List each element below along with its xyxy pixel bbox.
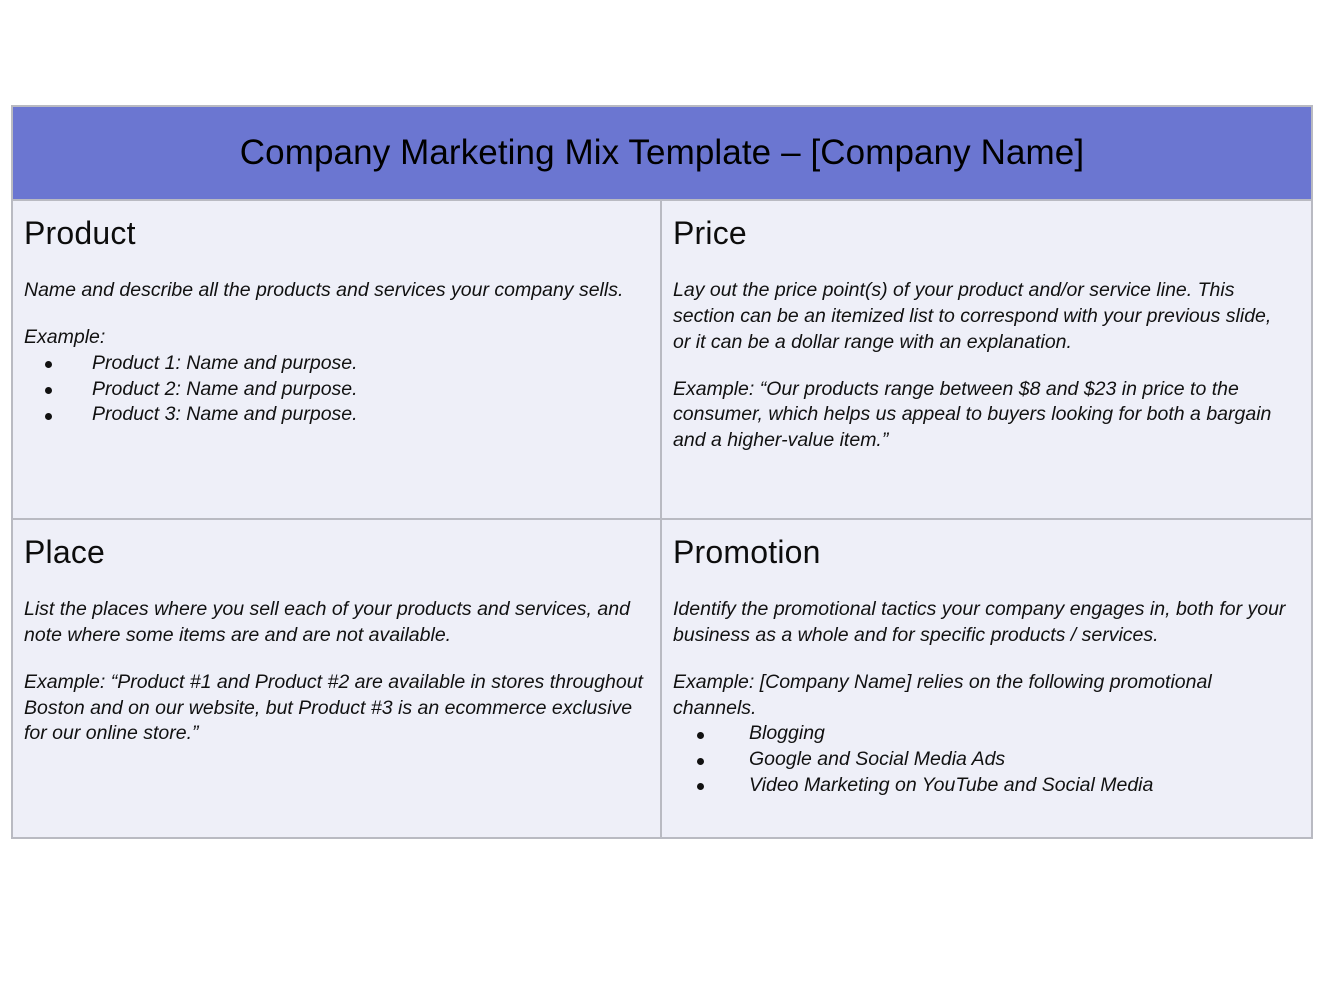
quadrant-promotion-example-label: Example: [Company Name] relies on the fo… — [673, 670, 1289, 722]
matrix-row-top: Product Name and describe all the produc… — [13, 201, 1311, 520]
quadrant-price-example: Example: “Our products range between $8 … — [673, 377, 1289, 455]
quadrant-price-heading: Price — [673, 215, 1289, 252]
list-item-label: Google and Social Media Ads — [749, 748, 1005, 770]
slide-header-band: Company Marketing Mix Template – [Compan… — [13, 107, 1311, 201]
list-item: Video Marketing on YouTube and Social Me… — [673, 773, 1289, 799]
list-item: Google and Social Media Ads — [673, 747, 1289, 773]
matrix-row-bottom: Place List the places where you sell eac… — [13, 520, 1311, 837]
quadrant-place-example: Example: “Product #1 and Product #2 are … — [24, 670, 644, 748]
quadrant-place-description: List the places where you sell each of y… — [24, 597, 644, 649]
quadrant-product-description: Name and describe all the products and s… — [24, 278, 644, 304]
list-item: Product 2: Name and purpose. — [24, 377, 644, 403]
quadrant-product-heading: Product — [24, 215, 644, 252]
bullet-dot-icon — [45, 413, 52, 420]
quadrant-price[interactable]: Price Lay out the price point(s) of your… — [662, 201, 1311, 518]
marketing-mix-slide: Company Marketing Mix Template – [Compan… — [0, 0, 1330, 1000]
bullet-dot-icon — [697, 783, 704, 790]
quadrant-place-body: List the places where you sell each of y… — [24, 597, 644, 748]
quadrant-promotion-heading: Promotion — [673, 534, 1289, 571]
quadrant-promotion-body: Identify the promotional tactics your co… — [673, 597, 1289, 799]
list-item: Product 1: Name and purpose. — [24, 351, 644, 377]
quadrant-price-body: Lay out the price point(s) of your produ… — [673, 278, 1289, 455]
list-item: Product 3: Name and purpose. — [24, 402, 644, 428]
quadrant-product-example-label: Example: — [24, 325, 644, 351]
bullet-dot-icon — [45, 387, 52, 394]
matrix-body: Product Name and describe all the produc… — [13, 201, 1311, 837]
quadrant-promotion-bullets: Blogging Google and Social Media Ads Vid… — [673, 721, 1289, 799]
quadrant-product-body: Name and describe all the products and s… — [24, 278, 644, 429]
bullet-dot-icon — [45, 361, 52, 368]
quadrant-promotion-description: Identify the promotional tactics your co… — [673, 597, 1289, 649]
list-item-label: Product 1: Name and purpose. — [92, 352, 358, 374]
list-item-label: Blogging — [749, 722, 825, 744]
list-item-label: Product 2: Name and purpose. — [92, 378, 358, 400]
bullet-dot-icon — [697, 732, 704, 739]
quadrant-product[interactable]: Product Name and describe all the produc… — [13, 201, 662, 518]
quadrant-place-heading: Place — [24, 534, 644, 571]
list-item-label: Product 3: Name and purpose. — [92, 403, 358, 425]
quadrant-price-description: Lay out the price point(s) of your produ… — [673, 278, 1289, 356]
marketing-mix-matrix: Company Marketing Mix Template – [Compan… — [11, 105, 1313, 839]
bullet-dot-icon — [697, 758, 704, 765]
list-item: Blogging — [673, 721, 1289, 747]
list-item-label: Video Marketing on YouTube and Social Me… — [749, 774, 1153, 796]
slide-title: Company Marketing Mix Template – [Compan… — [240, 134, 1084, 173]
quadrant-promotion[interactable]: Promotion Identify the promotional tacti… — [662, 520, 1311, 837]
quadrant-place[interactable]: Place List the places where you sell eac… — [13, 520, 662, 837]
quadrant-product-bullets: Product 1: Name and purpose. Product 2: … — [24, 351, 644, 429]
